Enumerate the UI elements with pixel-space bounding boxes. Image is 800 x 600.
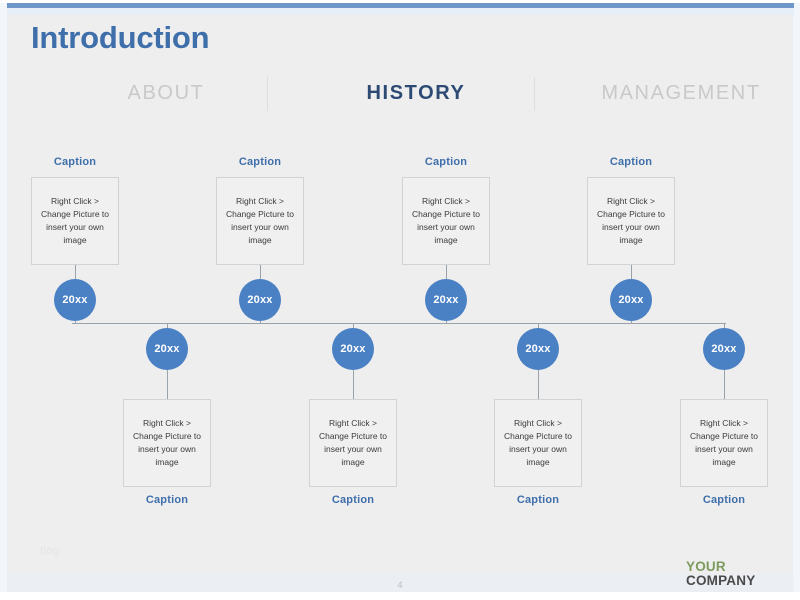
timeline-node-caption[interactable]: Caption	[293, 494, 413, 506]
timeline-node-caption[interactable]: Caption	[664, 494, 784, 506]
timeline-node-circle[interactable]: 20xx	[517, 328, 559, 370]
timeline-node-caption[interactable]: Caption	[15, 156, 135, 168]
timeline-leader-line	[75, 265, 76, 279]
tab-about[interactable]: ABOUT	[71, 76, 261, 110]
timeline-leader-line	[260, 265, 261, 279]
timeline-node-circle[interactable]: 20xx	[610, 279, 652, 321]
timeline-node-circle[interactable]: 20xx	[703, 328, 745, 370]
timeline-node-circle[interactable]: 20xx	[332, 328, 374, 370]
timeline-node-circle[interactable]: 20xx	[239, 279, 281, 321]
image-placeholder-box[interactable]: Right Click > Change Picture to insert y…	[402, 177, 490, 265]
image-placeholder-text: Right Click > Change Picture to insert y…	[314, 417, 392, 469]
image-placeholder-text: Right Click > Change Picture to insert y…	[221, 195, 299, 247]
company-logo: YOUR COMPANY	[686, 560, 755, 588]
image-placeholder-box[interactable]: Right Click > Change Picture to insert y…	[309, 399, 397, 487]
timeline-node-circle[interactable]: 20xx	[146, 328, 188, 370]
timeline-node-caption[interactable]: Caption	[571, 156, 691, 168]
image-placeholder-box[interactable]: Right Click > Change Picture to insert y…	[216, 177, 304, 265]
timeline-axis-line	[72, 323, 726, 324]
image-placeholder-box[interactable]: Right Click > Change Picture to insert y…	[587, 177, 675, 265]
tab-divider-1	[267, 77, 268, 111]
timeline-leader-line	[724, 370, 725, 399]
tab-management[interactable]: MANAGEMENT	[556, 76, 800, 110]
timeline-leader-line	[538, 370, 539, 399]
image-placeholder-text: Right Click > Change Picture to insert y…	[685, 417, 763, 469]
logo-line-2: COMPANY	[686, 574, 755, 588]
timeline-node-caption[interactable]: Caption	[200, 156, 320, 168]
top-accent-bar-fade	[7, 8, 794, 15]
image-placeholder-text: Right Click > Change Picture to insert y…	[592, 195, 670, 247]
timeline-node-circle[interactable]: 20xx	[425, 279, 467, 321]
image-placeholder-box[interactable]: Right Click > Change Picture to insert y…	[31, 177, 119, 265]
image-placeholder-text: Right Click > Change Picture to insert y…	[128, 417, 206, 469]
page-title: Introduction	[31, 20, 209, 56]
watermark-text: tlog	[40, 545, 60, 557]
timeline-node-caption[interactable]: Caption	[107, 494, 227, 506]
tab-history[interactable]: HISTORY	[301, 76, 531, 110]
image-placeholder-text: Right Click > Change Picture to insert y…	[407, 195, 485, 247]
section-tabs: ABOUT HISTORY MANAGEMENT	[31, 76, 767, 110]
image-placeholder-text: Right Click > Change Picture to insert y…	[36, 195, 114, 247]
slide-canvas: Introduction ABOUT HISTORY MANAGEMENT 20…	[0, 0, 800, 600]
logo-line-1: YOUR	[686, 560, 755, 574]
timeline-leader-line	[353, 370, 354, 399]
timeline-leader-line	[167, 370, 168, 399]
image-placeholder-box[interactable]: Right Click > Change Picture to insert y…	[123, 399, 211, 487]
timeline-leader-line	[631, 265, 632, 279]
timeline-node-caption[interactable]: Caption	[478, 494, 598, 506]
image-placeholder-text: Right Click > Change Picture to insert y…	[499, 417, 577, 469]
image-placeholder-box[interactable]: Right Click > Change Picture to insert y…	[680, 399, 768, 487]
left-edge-accent	[0, 3, 8, 592]
timeline-leader-line	[446, 265, 447, 279]
tab-divider-2	[534, 77, 535, 111]
timeline-node-circle[interactable]: 20xx	[54, 279, 96, 321]
timeline-node-caption[interactable]: Caption	[386, 156, 506, 168]
image-placeholder-box[interactable]: Right Click > Change Picture to insert y…	[494, 399, 582, 487]
page-number: 4	[0, 580, 800, 590]
